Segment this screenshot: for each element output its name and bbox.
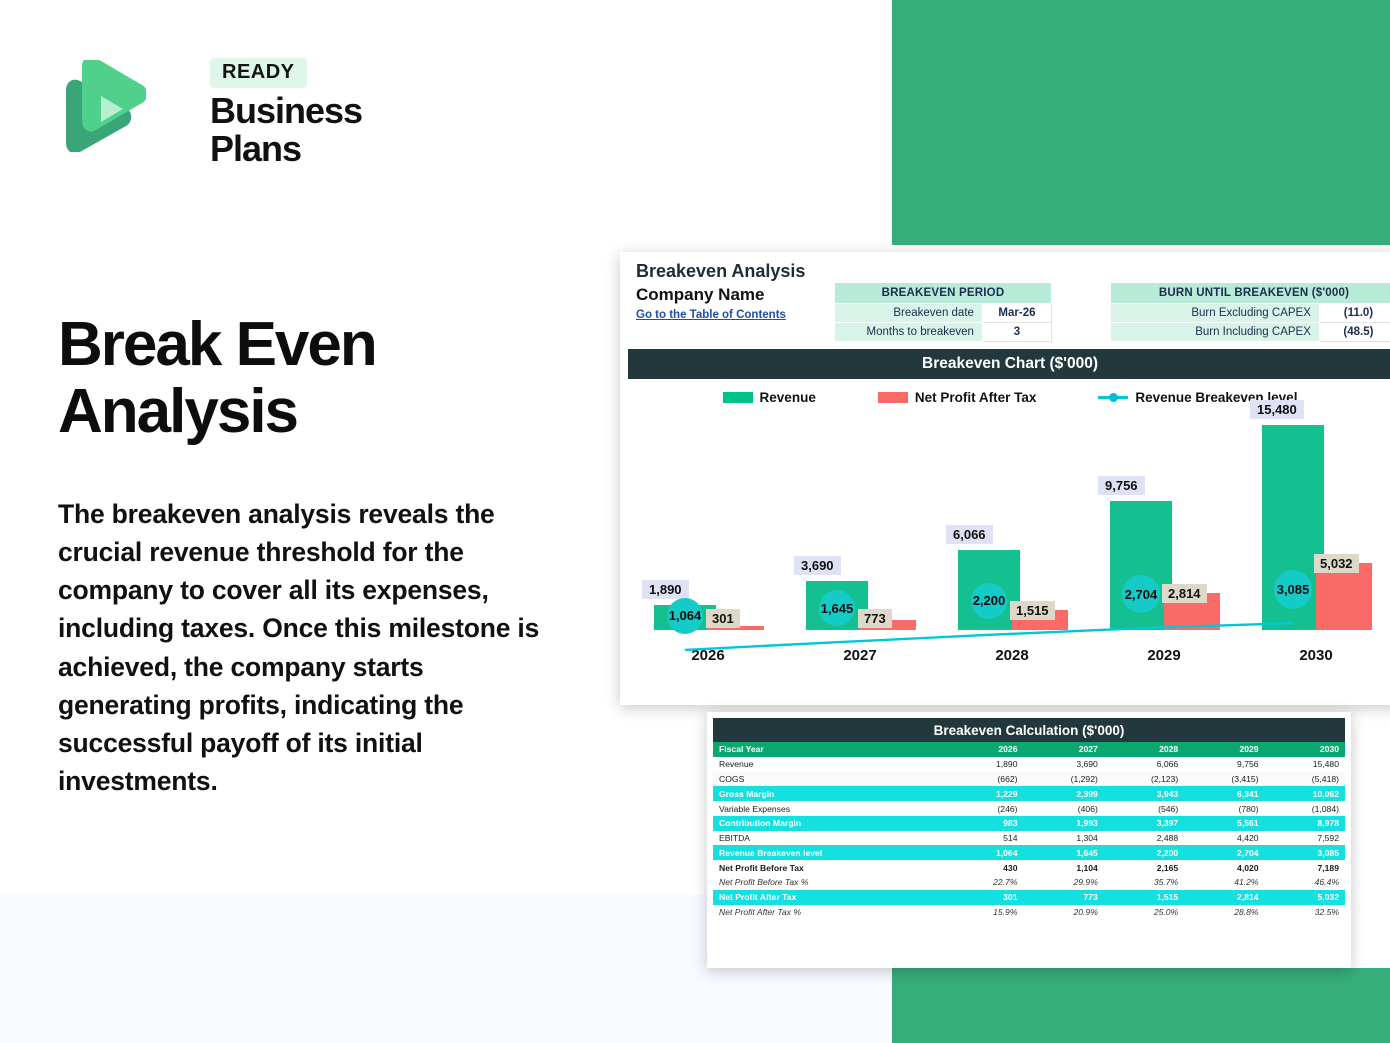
table-cell: 22.7% (949, 875, 1024, 890)
table-row-label: Revenue Breakeven level (713, 845, 949, 860)
table-cell: 2,814 (1184, 890, 1264, 905)
table-row: Gross Margin1,2292,3993,9436,34110,062 (713, 786, 1345, 801)
x-axis-label-2027: 2027 (784, 647, 936, 664)
table-cell: 1,645 (1023, 845, 1103, 860)
table-cell: 1,304 (1023, 831, 1103, 846)
table-cell: 4,020 (1184, 860, 1264, 875)
chart-group-2026: 1,8901,064301 (632, 418, 784, 630)
page-title: Break Even Analysis (58, 312, 578, 446)
table-cell: 2,165 (1104, 860, 1184, 875)
net-profit-value-label-2026: 301 (706, 609, 740, 628)
legend-item-revenue[interactable]: Revenue (723, 390, 816, 405)
chart-title-band: Breakeven Chart ($'000) (628, 349, 1390, 379)
breakeven-level-marker-2026[interactable]: 1,064 (667, 598, 703, 634)
table-col-header-2029: 2029 (1184, 742, 1264, 757)
table-row-label: Net Profit Before Tax % (713, 875, 949, 890)
net-profit-value-label-2028: 1,515 (1010, 601, 1055, 620)
table-cell: 25.0% (1104, 905, 1184, 920)
burn-excluding-capex-value[interactable]: (11.0) (1319, 304, 1390, 323)
table-row-label: Gross Margin (713, 786, 949, 801)
chart-group-2029: 9,7562,7042,814 (1088, 418, 1240, 630)
table-col-header-2030: 2030 (1265, 742, 1345, 757)
table-cell: 983 (949, 816, 1024, 831)
table-cell: 3,085 (1265, 845, 1345, 860)
table-cell: 1,229 (949, 786, 1024, 801)
chart-group-2028: 6,0662,2001,515 (936, 418, 1088, 630)
table-cell: 430 (949, 860, 1024, 875)
table-row-label: EBITDA (713, 831, 949, 846)
table-row: Variable Expenses(246)(406)(546)(780)(1,… (713, 801, 1345, 816)
table-cell: 3,690 (1023, 757, 1103, 772)
legend-swatch-net-profit-icon (878, 392, 908, 403)
sheet-title: Breakeven Analysis (636, 261, 805, 282)
net-profit-bar-2030[interactable] (1316, 563, 1372, 630)
table-col-header-2028: 2028 (1104, 742, 1184, 757)
net-profit-value-label-2029: 2,814 (1162, 584, 1207, 603)
table-cell: 35.7% (1104, 875, 1184, 890)
breakeven-period-header: BREAKEVEN PERIOD (835, 283, 1052, 304)
months-to-breakeven-label: Months to breakeven (835, 323, 983, 342)
table-cell: (3,415) (1184, 772, 1264, 787)
burn-excluding-capex-label: Burn Excluding CAPEX (1111, 304, 1320, 323)
ready-badge: READY (210, 58, 307, 88)
table-row: Revenue Breakeven level1,0641,6452,2002,… (713, 845, 1345, 860)
table-row-label: Net Profit Before Tax (713, 860, 949, 875)
table-cell: 1,515 (1104, 890, 1184, 905)
table-cell: 7,592 (1265, 831, 1345, 846)
table-cell: (5,418) (1265, 772, 1345, 787)
page-description: The breakeven analysis reveals the cruci… (58, 495, 548, 800)
table-row-label: Revenue (713, 757, 949, 772)
table-header-row: Fiscal Year20262027202820292030 (713, 742, 1345, 757)
table-cell: 1,064 (949, 845, 1024, 860)
revenue-value-label-2026: 1,890 (642, 580, 689, 599)
legend-swatch-breakeven-line-icon (1098, 392, 1128, 403)
table-of-contents-link[interactable]: Go to the Table of Contents (636, 309, 786, 321)
legend-label-net-profit: Net Profit After Tax (915, 390, 1037, 405)
table-cell: 8,978 (1265, 816, 1345, 831)
x-axis-label-2030: 2030 (1240, 647, 1390, 664)
breakeven-level-marker-2029[interactable]: 2,704 (1122, 575, 1160, 613)
table-row: Revenue1,8903,6906,0669,75615,480 (713, 757, 1345, 772)
table-row-label: Net Profit After Tax % (713, 905, 949, 920)
table-cell: 15.9% (949, 905, 1024, 920)
revenue-value-label-2027: 3,690 (794, 556, 841, 575)
breakeven-level-marker-2030[interactable]: 3,085 (1274, 570, 1313, 609)
table-row: EBITDA5141,3042,4884,4207,592 (713, 831, 1345, 846)
table-row-label: Net Profit After Tax (713, 890, 949, 905)
burn-including-capex-label: Burn Including CAPEX (1111, 323, 1320, 342)
table-cell: 6,066 (1104, 757, 1184, 772)
legend-label-revenue: Revenue (760, 390, 816, 405)
table-cell: (780) (1184, 801, 1264, 816)
table-cell: 1,104 (1023, 860, 1103, 875)
table-cell: 29.9% (1023, 875, 1103, 890)
brand-name: Business Plans (210, 92, 440, 168)
breakeven-calculation-card: Breakeven Calculation ($'000) Fiscal Yea… (707, 712, 1351, 968)
table-cell: 1,993 (1023, 816, 1103, 831)
months-to-breakeven-value[interactable]: 3 (982, 323, 1051, 342)
chart-group-2030: 15,4803,0855,032 (1240, 418, 1390, 630)
table-cell: 2,399 (1023, 786, 1103, 801)
table-cell: (662) (949, 772, 1024, 787)
play-triangle-logo-icon (60, 60, 146, 152)
table-col-header-fiscal-year: Fiscal Year (713, 742, 949, 757)
table-body: Revenue1,8903,6906,0669,75615,480COGS(66… (713, 757, 1345, 920)
table-cell: (1,292) (1023, 772, 1103, 787)
table-cell: 5,032 (1265, 890, 1345, 905)
sheet-header: Breakeven Analysis Company Name Go to th… (620, 252, 1390, 347)
table-cell: 46.4% (1265, 875, 1345, 890)
revenue-value-label-2029: 9,756 (1098, 476, 1145, 495)
table-cell: (406) (1023, 801, 1103, 816)
x-axis-label-2026: 2026 (632, 647, 784, 664)
table-cell: 32.5% (1265, 905, 1345, 920)
chart-plot-area: 1,8901,064301 3,6901,645773 6,0662,2001,… (628, 418, 1390, 664)
burn-until-breakeven-panel: BURN UNTIL BREAKEVEN ($'000) Burn Exclud… (1110, 282, 1390, 342)
table-row: Net Profit Before Tax %22.7%29.9%35.7%41… (713, 875, 1345, 890)
x-axis-label-2028: 2028 (936, 647, 1088, 664)
table-cell: 6,341 (1184, 786, 1264, 801)
table-cell: 10,062 (1265, 786, 1345, 801)
breakeven-calculation-table: Fiscal Year20262027202820292030 Revenue1… (713, 742, 1345, 919)
table-cell: 301 (949, 890, 1024, 905)
breakeven-date-label: Breakeven date (835, 304, 983, 323)
burn-header: BURN UNTIL BREAKEVEN ($'000) (1111, 283, 1390, 304)
table-row: Net Profit After Tax %15.9%20.9%25.0%28.… (713, 905, 1345, 920)
table-cell: 4,420 (1184, 831, 1264, 846)
table-cell: 7,189 (1265, 860, 1345, 875)
table-cell: 514 (949, 831, 1024, 846)
table-col-header-2026: 2026 (949, 742, 1024, 757)
breakeven-period-panel: BREAKEVEN PERIOD Breakeven date Mar-26 M… (834, 282, 1052, 342)
legend-item-net-profit[interactable]: Net Profit After Tax (878, 390, 1037, 405)
revenue-value-label-2028: 6,066 (946, 525, 993, 544)
table-col-header-2027: 2027 (1023, 742, 1103, 757)
table-cell: 9,756 (1184, 757, 1264, 772)
legend-swatch-revenue-icon (723, 392, 753, 403)
table-row-label: Variable Expenses (713, 801, 949, 816)
table-cell: (1,084) (1265, 801, 1345, 816)
table-row-label: COGS (713, 772, 949, 787)
breakeven-level-marker-2028[interactable]: 2,200 (971, 583, 1007, 619)
table-cell: 3,397 (1104, 816, 1184, 831)
background-green-bottom (892, 968, 1390, 1043)
table-cell: (246) (949, 801, 1024, 816)
breakeven-level-marker-2027[interactable]: 1,645 (819, 590, 855, 626)
table-cell: 15,480 (1265, 757, 1345, 772)
table-row: Net Profit After Tax3017731,5152,8145,03… (713, 890, 1345, 905)
x-axis-label-2029: 2029 (1088, 647, 1240, 664)
table-cell: 2,200 (1104, 845, 1184, 860)
breakeven-date-value[interactable]: Mar-26 (982, 304, 1051, 323)
table-cell: 773 (1023, 890, 1103, 905)
table-row: COGS(662)(1,292)(2,123)(3,415)(5,418) (713, 772, 1345, 787)
net-profit-value-label-2027: 773 (858, 609, 892, 628)
table-cell: 41.2% (1184, 875, 1264, 890)
table-cell: 2,488 (1104, 831, 1184, 846)
table-cell: 2,704 (1184, 845, 1264, 860)
table-cell: (546) (1104, 801, 1184, 816)
company-name: Company Name (636, 285, 764, 305)
burn-including-capex-value[interactable]: (48.5) (1319, 323, 1390, 342)
table-cell: 3,943 (1104, 786, 1184, 801)
table-cell: 28.8% (1184, 905, 1264, 920)
table-cell: 5,561 (1184, 816, 1264, 831)
revenue-value-label-2030: 15,480 (1250, 400, 1304, 419)
table-row: Contribution Margin9831,9933,3975,5618,9… (713, 816, 1345, 831)
brand-wordmark: READY Business Plans (210, 58, 440, 168)
chart-group-2027: 3,6901,645773 (784, 418, 936, 630)
table-cell: 1,890 (949, 757, 1024, 772)
table-cell: (2,123) (1104, 772, 1184, 787)
net-profit-value-label-2030: 5,032 (1314, 554, 1359, 573)
brand-logo: READY Business Plans (60, 58, 440, 158)
table-row: Net Profit Before Tax4301,1042,1654,0207… (713, 860, 1345, 875)
table-row-label: Contribution Margin (713, 816, 949, 831)
breakeven-chart-card: Breakeven Analysis Company Name Go to th… (620, 252, 1390, 705)
table-title-band: Breakeven Calculation ($'000) (713, 718, 1345, 742)
table-cell: 20.9% (1023, 905, 1103, 920)
background-green-top (892, 0, 1390, 245)
